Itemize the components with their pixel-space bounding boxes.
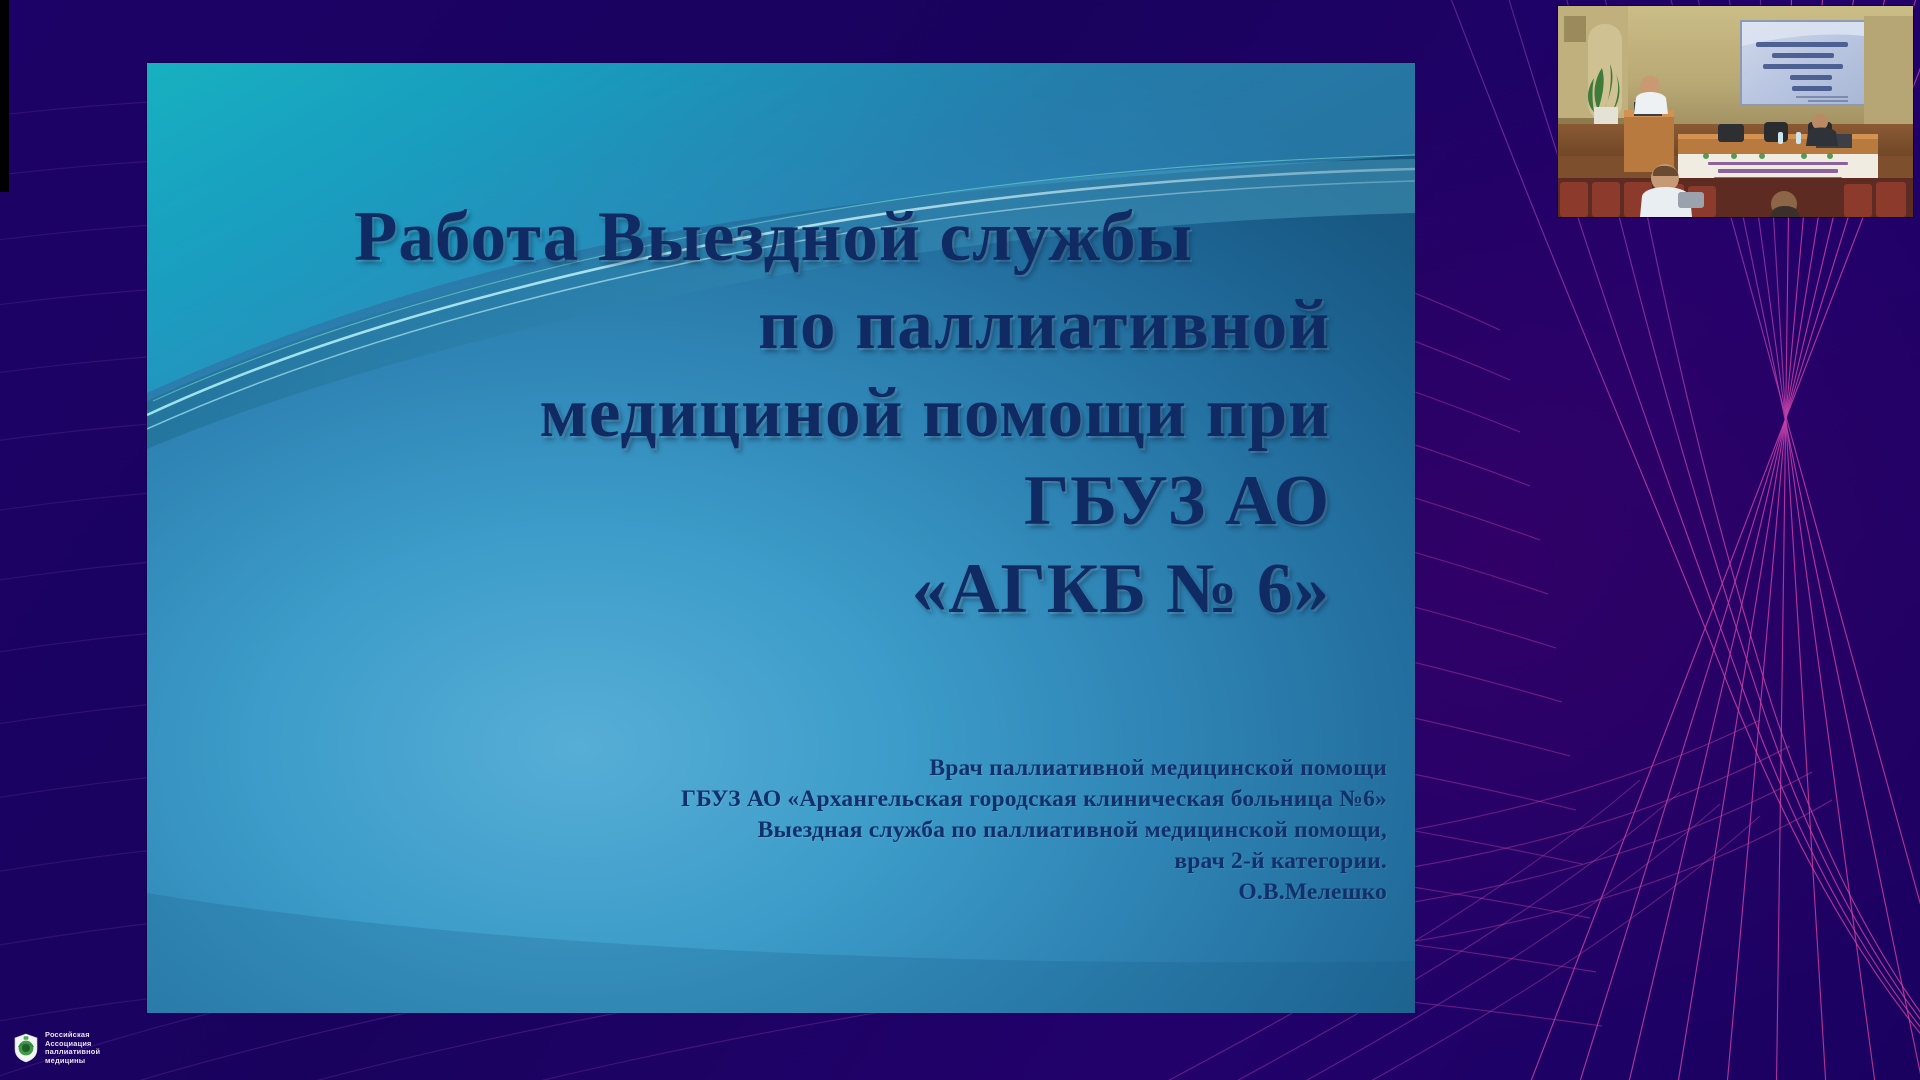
title-line-2: по паллиативной: [217, 281, 1330, 369]
logo-line-4: медицины: [45, 1057, 100, 1066]
slide-credits: Врач паллиативной медицинской помощи ГБУ…: [387, 753, 1387, 908]
presentation-slide[interactable]: Работа Выездной службы по паллиативной м…: [147, 63, 1415, 1013]
association-logo: Российская Ассоциация паллиативной медиц…: [13, 1031, 100, 1065]
title-line-4: ГБУЗ АО: [217, 457, 1330, 545]
title-line-5: «АГКБ № 6»: [217, 545, 1330, 633]
title-line-1: Работа Выездной службы: [217, 193, 1330, 281]
title-line-3: медициной помощи при: [217, 369, 1330, 457]
association-logo-text: Российская Ассоциация паллиативной медиц…: [45, 1031, 100, 1065]
slide-title: Работа Выездной службы по паллиативной м…: [217, 193, 1330, 633]
credit-line-service: Выездная служба по паллиативной медицинс…: [387, 815, 1387, 846]
corner-black-strip: [0, 0, 9, 192]
webinar-stage: Работа Выездной службы по паллиативной м…: [0, 0, 1920, 1080]
credit-line-category: врач 2-й категории.: [387, 846, 1387, 877]
credit-line-institution: ГБУЗ АО «Архангельская городская клиниче…: [387, 784, 1387, 815]
webcam-pip-image: [1558, 6, 1913, 217]
credit-line-author: О.В.Мелешко: [387, 877, 1387, 908]
webcam-pip[interactable]: [1558, 6, 1913, 217]
shield-emblem-icon: [13, 1033, 39, 1063]
credit-line-role: Врач паллиативной медицинской помощи: [387, 753, 1387, 784]
